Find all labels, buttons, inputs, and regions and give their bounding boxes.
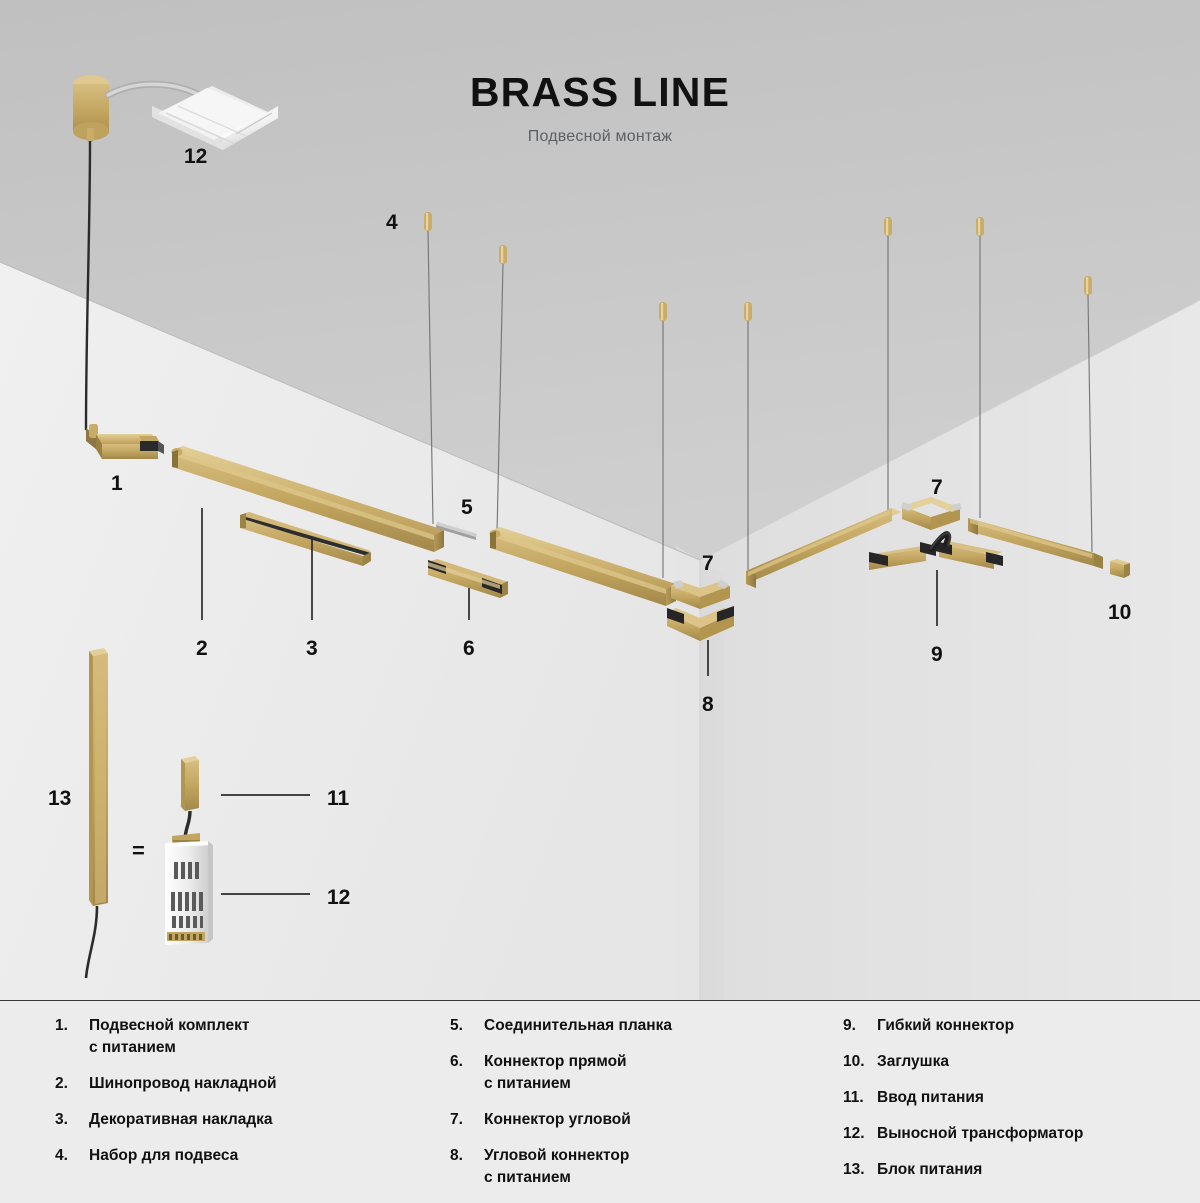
legend-item: 12.Выносной трансформатор: [843, 1123, 1200, 1145]
legend-item-number: 4.: [55, 1145, 89, 1167]
legend-item-label: Соединительная планка: [484, 1015, 672, 1037]
legend-item-label: Гибкий коннектор: [877, 1015, 1014, 1037]
legend-column-1: 1.Подвесной комплект с питанием2.Шинопро…: [55, 1015, 435, 1181]
scene-illustration: BRASS LINE Подвесной монтаж 124152367879…: [0, 0, 1200, 1000]
callout-9: 9: [931, 644, 943, 665]
callout-12-kit: 12: [327, 887, 350, 908]
legend-item: 13.Блок питания: [843, 1159, 1200, 1181]
legend-item-label: Угловой коннектор с питанием: [484, 1145, 629, 1189]
callout-11: 11: [327, 788, 349, 809]
legend-item-label: Заглушка: [877, 1051, 949, 1073]
scene-svg: [0, 0, 1200, 1000]
callout-6: 6: [463, 638, 475, 659]
legend-item-number: 12.: [843, 1123, 877, 1145]
brass-line-diagram: BRASS LINE Подвесной монтаж 124152367879…: [0, 0, 1200, 1200]
callout-13: 13: [48, 788, 71, 809]
legend-column-2: 5.Соединительная планка6.Коннектор прямо…: [450, 1015, 830, 1203]
legend-item: 5.Соединительная планка: [450, 1015, 830, 1037]
callout-7-right: 7: [931, 477, 943, 498]
legend-item-number: 13.: [843, 1159, 877, 1181]
callout-5: 5: [461, 497, 473, 518]
legend-item-number: 11.: [843, 1087, 877, 1109]
legend-item: 9.Гибкий коннектор: [843, 1015, 1200, 1037]
legend-item: 4.Набор для подвеса: [55, 1145, 435, 1167]
legend-item-number: 5.: [450, 1015, 484, 1037]
legend-item-number: 1.: [55, 1015, 89, 1037]
callout-8: 8: [702, 694, 714, 715]
legend-item-number: 2.: [55, 1073, 89, 1095]
callout-10: 10: [1108, 602, 1131, 623]
legend-item-label: Набор для подвеса: [89, 1145, 238, 1167]
legend-item-label: Выносной трансформатор: [877, 1123, 1083, 1145]
legend-item-label: Декоративная накладка: [89, 1109, 273, 1131]
legend-item-number: 6.: [450, 1051, 484, 1073]
callout-1: 1: [111, 473, 123, 494]
legend-item-number: 8.: [450, 1145, 484, 1167]
legend-item-label: Коннектор прямой с питанием: [484, 1051, 627, 1095]
legend-item: 6.Коннектор прямой с питанием: [450, 1051, 830, 1095]
legend-item: 10.Заглушка: [843, 1051, 1200, 1073]
callout-3: 3: [306, 638, 318, 659]
legend: 1.Подвесной комплект с питанием2.Шинопро…: [0, 1000, 1200, 1200]
callout-7-left: 7: [702, 553, 714, 574]
callout-2: 2: [196, 638, 208, 659]
legend-item-label: Ввод питания: [877, 1087, 984, 1109]
callout-12-top: 12: [184, 146, 207, 167]
callout-equals: =: [132, 840, 145, 862]
legend-item-label: Шинопровод накладной: [89, 1073, 277, 1095]
legend-item: 2.Шинопровод накладной: [55, 1073, 435, 1095]
legend-item: 1.Подвесной комплект с питанием: [55, 1015, 435, 1059]
legend-item-label: Подвесной комплект с питанием: [89, 1015, 250, 1059]
legend-item-number: 7.: [450, 1109, 484, 1131]
legend-column-3: 9.Гибкий коннектор10.Заглушка11.Ввод пит…: [843, 1015, 1200, 1195]
legend-item: 11.Ввод питания: [843, 1087, 1200, 1109]
legend-item-number: 3.: [55, 1109, 89, 1131]
legend-item: 8.Угловой коннектор с питанием: [450, 1145, 830, 1189]
legend-item-label: Блок питания: [877, 1159, 982, 1181]
legend-item-number: 10.: [843, 1051, 877, 1073]
part-12-remote-transformer-psu: [165, 833, 213, 945]
legend-item: 3.Декоративная накладка: [55, 1109, 435, 1131]
legend-item-number: 9.: [843, 1015, 877, 1037]
legend-item: 7.Коннектор угловой: [450, 1109, 830, 1131]
callout-4: 4: [386, 212, 398, 233]
legend-item-label: Коннектор угловой: [484, 1109, 631, 1131]
